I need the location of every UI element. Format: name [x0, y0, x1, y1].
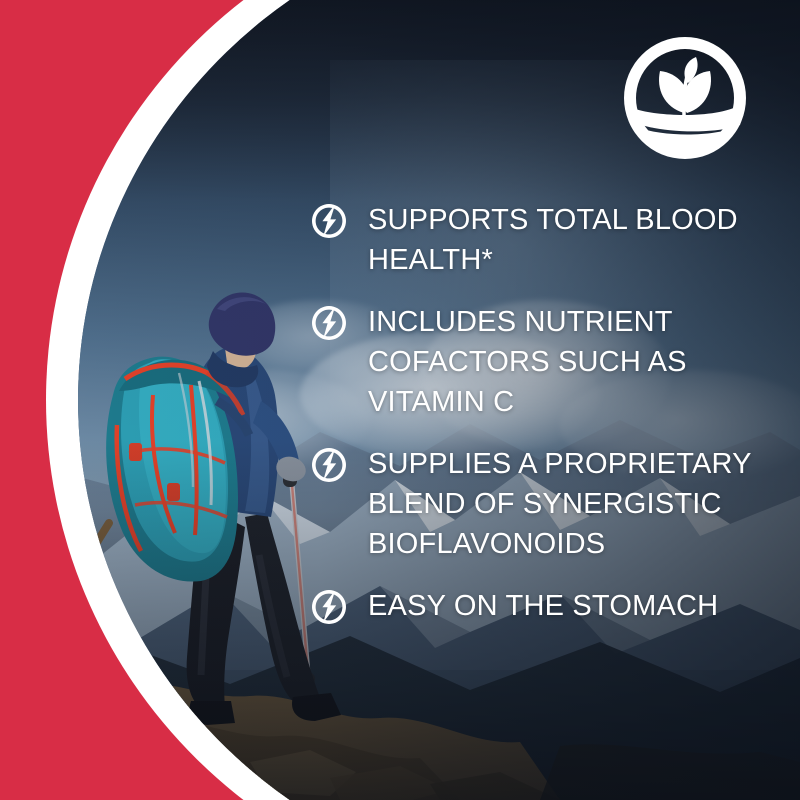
lightning-bolt-circle-icon — [310, 588, 348, 626]
logo-bowl — [636, 127, 736, 157]
list-item-label: Easy on the stomach — [368, 586, 718, 626]
product-benefits-poster: Supports total blood health* Includes nu… — [0, 0, 800, 800]
lightning-bolt-circle-icon — [310, 202, 348, 240]
list-item-label: Includes nutrient cofactors such as vita… — [368, 302, 780, 422]
list-item: Includes nutrient cofactors such as vita… — [310, 302, 780, 422]
list-item: Supports total blood health* — [310, 200, 780, 280]
lightning-bolt-circle-icon — [310, 304, 348, 342]
list-item-label: Supports total blood health* — [368, 200, 780, 280]
list-item: Easy on the stomach — [310, 586, 780, 626]
list-item: Supplies a proprietary blend of synergis… — [310, 444, 780, 564]
leaf-in-circle-logo — [620, 33, 750, 163]
list-item-label: Supplies a proprietary blend of synergis… — [368, 444, 780, 564]
benefits-list: Supports total blood health* Includes nu… — [310, 200, 780, 648]
lightning-bolt-circle-icon — [310, 446, 348, 484]
